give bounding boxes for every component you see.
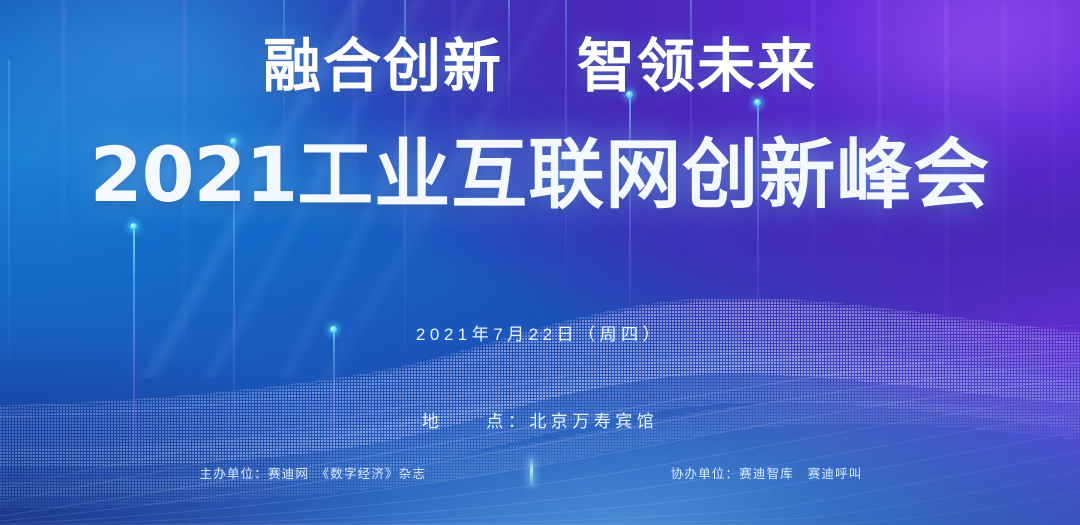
headline-right: 智领未来 — [577, 34, 817, 99]
title-year: 2021 — [90, 130, 298, 219]
poster-footer: 主办单位：赛迪网 《数字经济》杂志 协办单位：赛迪智库 赛迪呼叫 — [0, 458, 1080, 486]
organizer-credit: 主办单位：赛迪网 《数字经济》杂志 — [182, 463, 530, 482]
poster-title: 2021工业互联网创新峰会 — [0, 132, 1080, 219]
poster-headline: 融合创新智领未来 — [0, 34, 1080, 100]
headline-left: 融合创新 — [263, 34, 503, 99]
event-poster: 融合创新智领未来 2021工业互联网创新峰会 2021年7月22日（周四） 地 … — [0, 0, 1080, 525]
title-text: 工业互联网创新峰会 — [297, 133, 990, 218]
event-venue: 地 点：北京万寿宾馆 — [0, 407, 1080, 436]
co-organizer-credit: 协办单位：赛迪智库 赛迪呼叫 — [533, 463, 899, 482]
event-date: 2021年7月22日（周四） — [0, 320, 1080, 349]
